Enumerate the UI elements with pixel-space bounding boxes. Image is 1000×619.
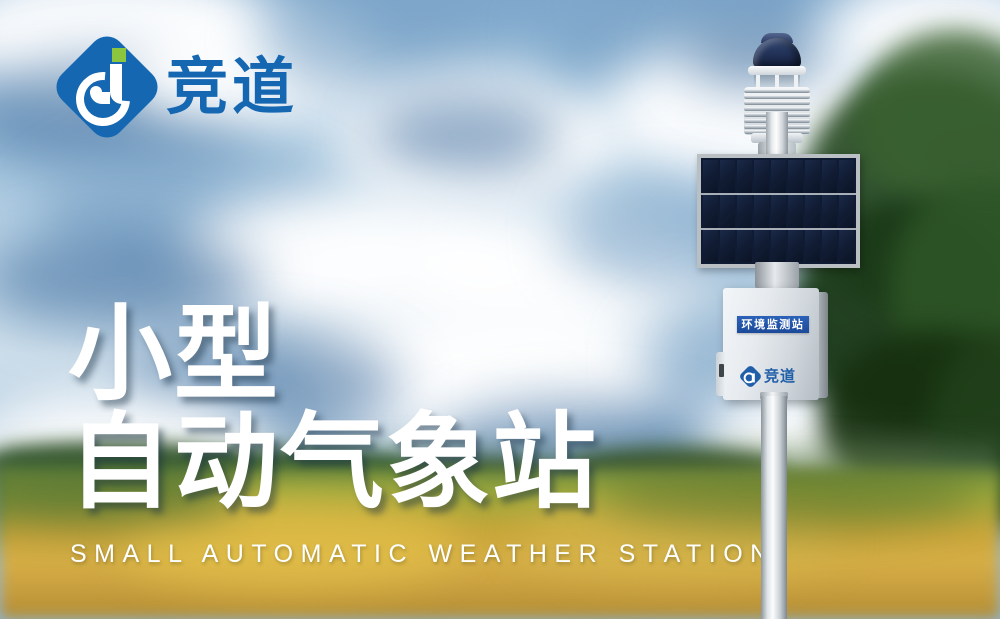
enclosure-latch bbox=[719, 364, 724, 377]
enclosure-brand-logo: 竞道 bbox=[742, 368, 796, 385]
sensor-rim bbox=[748, 66, 806, 75]
weather-station-product: 环境监测站 竞道 bbox=[0, 0, 1000, 619]
enclosure-banner-text: 环境监测站 bbox=[742, 319, 805, 330]
support-pole bbox=[761, 396, 787, 619]
sensor-air-gap bbox=[754, 75, 800, 87]
enclosure-brand-text: 竞道 bbox=[764, 369, 796, 384]
solar-panel-cells bbox=[701, 158, 856, 264]
enclosure-side-face bbox=[819, 292, 828, 398]
enclosure-banner: 环境监测站 bbox=[737, 316, 809, 333]
promo-banner: 竞道 小型 自动气象站 SMALL AUTOMATIC WEATHER STAT… bbox=[0, 0, 1000, 619]
jingdao-diamond-logo-icon bbox=[738, 364, 762, 388]
solar-panel-mount bbox=[755, 262, 799, 288]
solar-panel bbox=[697, 154, 860, 268]
